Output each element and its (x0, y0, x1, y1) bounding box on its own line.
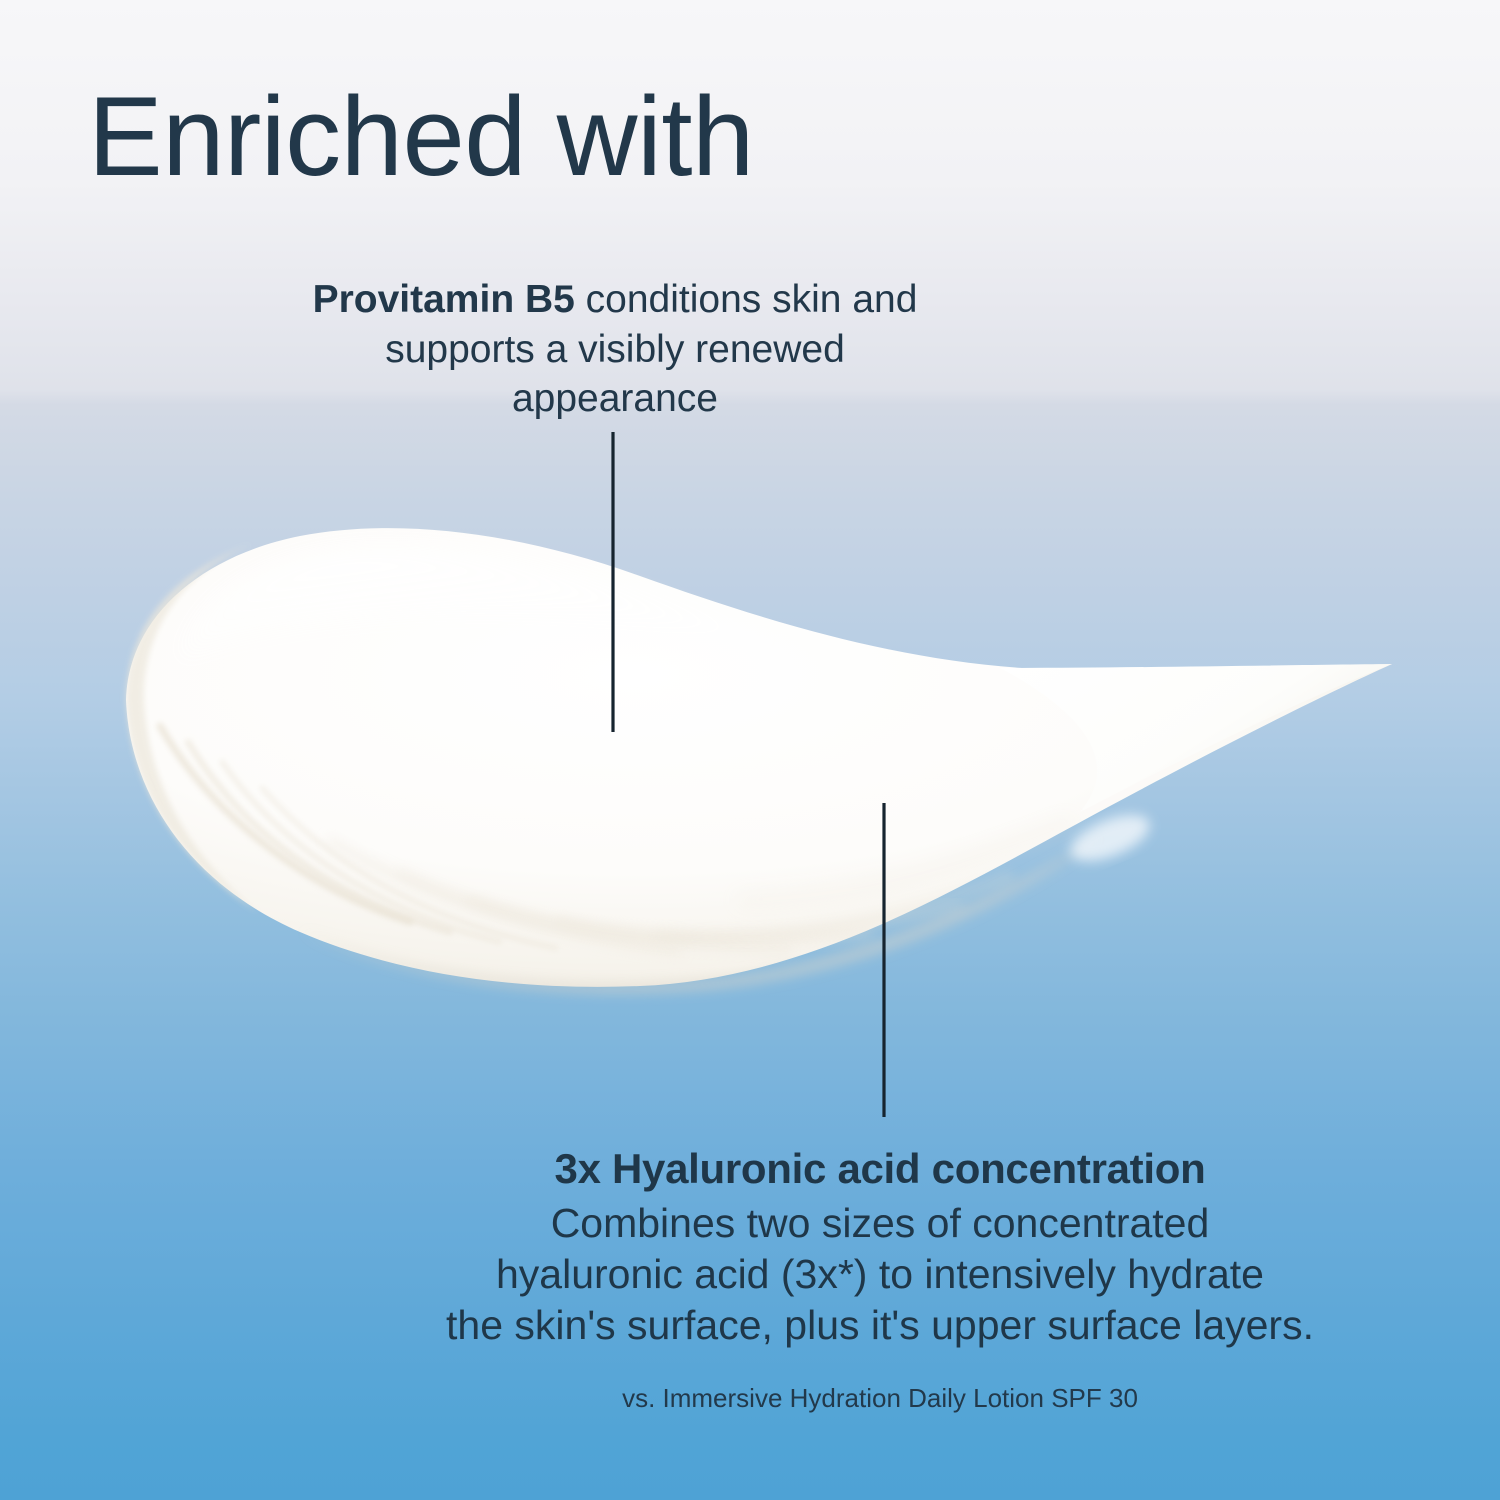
callout-hyaluronic-acid-title: 3x Hyaluronic acid concentration (290, 1143, 1470, 1196)
footnote-comparison: vs. Immersive Hydration Daily Lotion SPF… (290, 1383, 1470, 1414)
page-title: Enriched with (88, 78, 754, 196)
callout-hyaluronic-acid-line-3: the skin's surface, plus it's upper surf… (290, 1300, 1470, 1351)
callout-provitamin-b5-bold: Provitamin B5 (313, 278, 575, 321)
callout-hyaluronic-acid-line-2: hyaluronic acid (3x*) to intensively hyd… (290, 1249, 1470, 1300)
product-ingredient-infographic: Enriched with Provitamin B5 conditions s… (0, 0, 1500, 1500)
callout-hyaluronic-acid: 3x Hyaluronic acid concentration Combine… (290, 1143, 1470, 1351)
callout-provitamin-b5: Provitamin B5 conditions skin and suppor… (300, 275, 930, 424)
callout-hyaluronic-acid-line-1: Combines two sizes of concentrated (290, 1198, 1470, 1249)
